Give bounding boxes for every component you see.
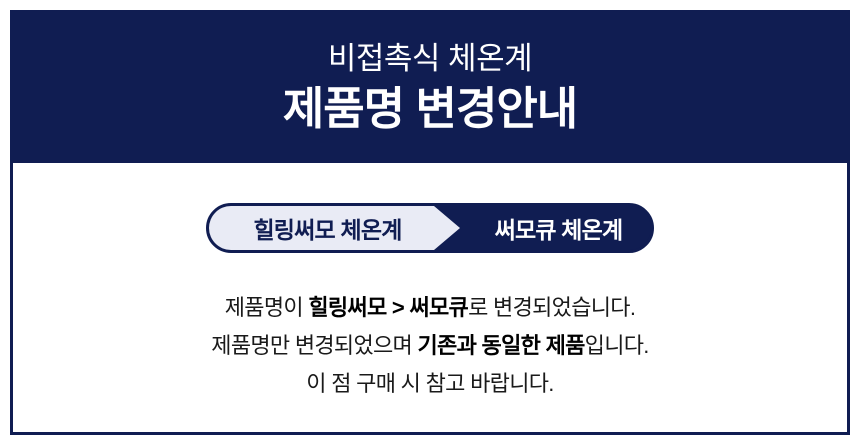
message-line-1-after: 로 변경되었습니다.: [468, 295, 635, 320]
notice-body: 힐링써모 체온계 써모큐 체온계 제품명이 힐링써모 > 써모큐로 변경되었습니…: [10, 163, 850, 435]
name-change-badge: 힐링써모 체온계 써모큐 체온계: [206, 203, 654, 253]
message-line-1: 제품명이 힐링써모 > 써모큐로 변경되었습니다.: [211, 289, 648, 327]
message-line-2: 제품명만 변경되었으며 기존과 동일한 제품입니다.: [211, 327, 648, 365]
new-product-name-segment: 써모큐 체온계: [460, 206, 651, 250]
page-title: 제품명 변경안내: [283, 82, 577, 136]
message-line-1-before: 제품명이: [225, 295, 309, 320]
old-product-name-segment: 힐링써모 체온계: [209, 206, 460, 250]
notice-message-block: 제품명이 힐링써모 > 써모큐로 변경되었습니다. 제품명만 변경되었으며 기존…: [211, 289, 648, 403]
message-line-2-after: 입니다.: [585, 333, 649, 358]
notice-header: 비접촉식 체온계 제품명 변경안내: [10, 10, 850, 163]
old-product-name-label: 힐링써모 체온계: [253, 211, 401, 245]
message-line-1-emphasis: 힐링써모 > 써모큐: [308, 295, 468, 320]
message-line-3: 이 점 구매 시 참고 바랍니다.: [211, 365, 648, 403]
message-line-2-emphasis: 기존과 동일한 제품: [418, 333, 585, 358]
product-rename-notice-card: 비접촉식 체온계 제품명 변경안내 힐링써모 체온계 써모큐 체온계 제품명이 …: [10, 10, 850, 435]
new-product-name-label: 써모큐 체온계: [495, 211, 623, 245]
message-line-3-text: 이 점 구매 시 참고 바랍니다.: [306, 371, 553, 396]
message-line-2-before: 제품명만 변경되었으며: [211, 333, 417, 358]
header-subtitle: 비접촉식 체온계: [328, 41, 532, 77]
